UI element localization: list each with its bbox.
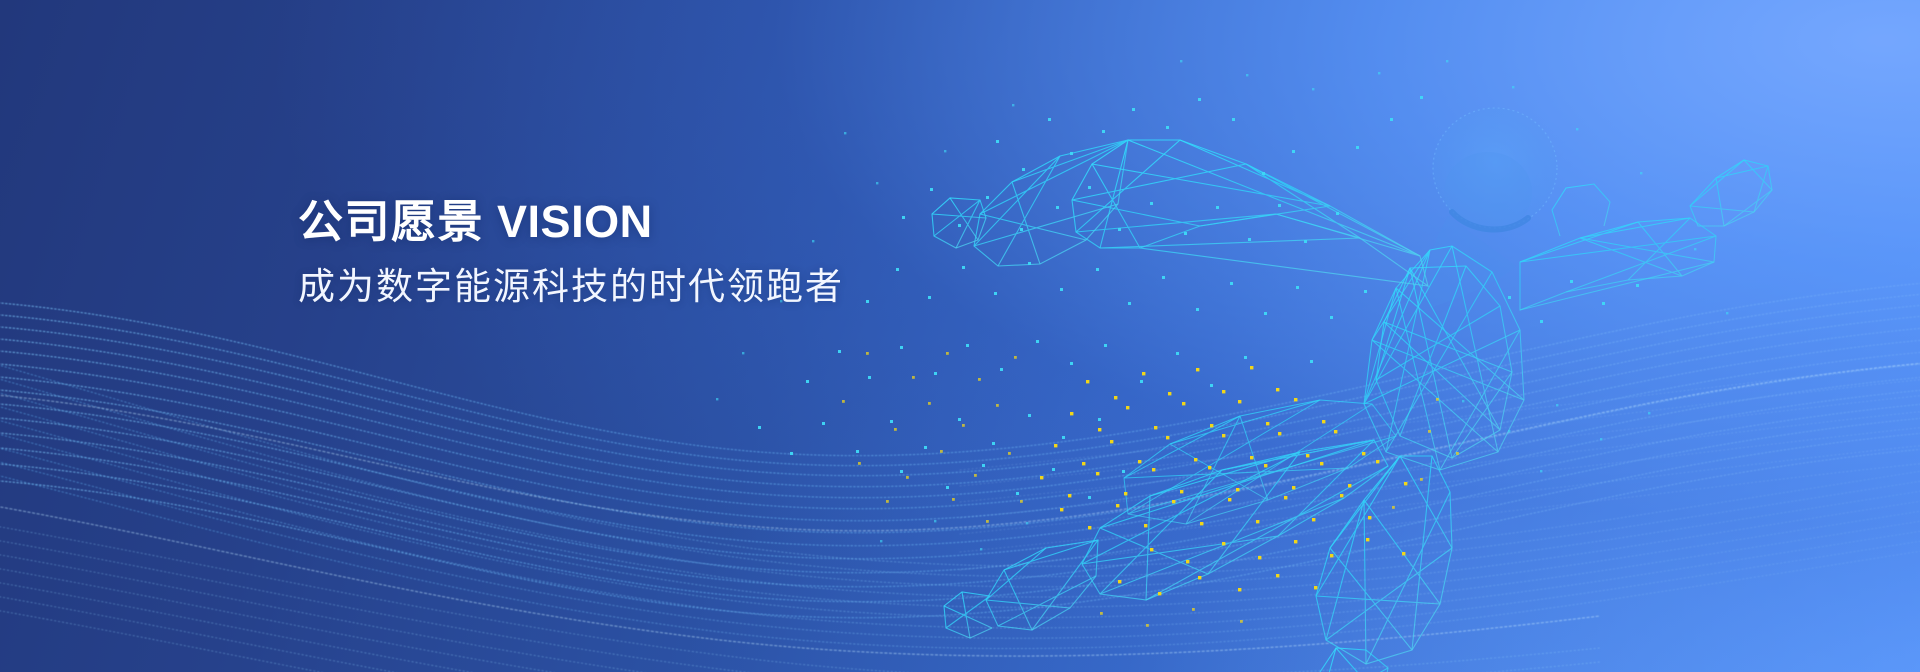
vision-banner: 公司愿景 VISION 成为数字能源科技的时代领跑者 bbox=[0, 0, 1920, 672]
page-title: 公司愿景 VISION bbox=[298, 196, 1058, 248]
title-english bbox=[484, 196, 497, 247]
title-chinese: 公司愿景 bbox=[298, 196, 484, 247]
dispersing-particle-field bbox=[0, 0, 1920, 672]
yellow-particles bbox=[842, 352, 1459, 627]
title-english-text: VISION bbox=[497, 196, 653, 247]
page-subtitle: 成为数字能源科技的时代领跑者 bbox=[298, 264, 1058, 310]
banner-text-block: 公司愿景 VISION 成为数字能源科技的时代领跑者 bbox=[298, 196, 1058, 310]
